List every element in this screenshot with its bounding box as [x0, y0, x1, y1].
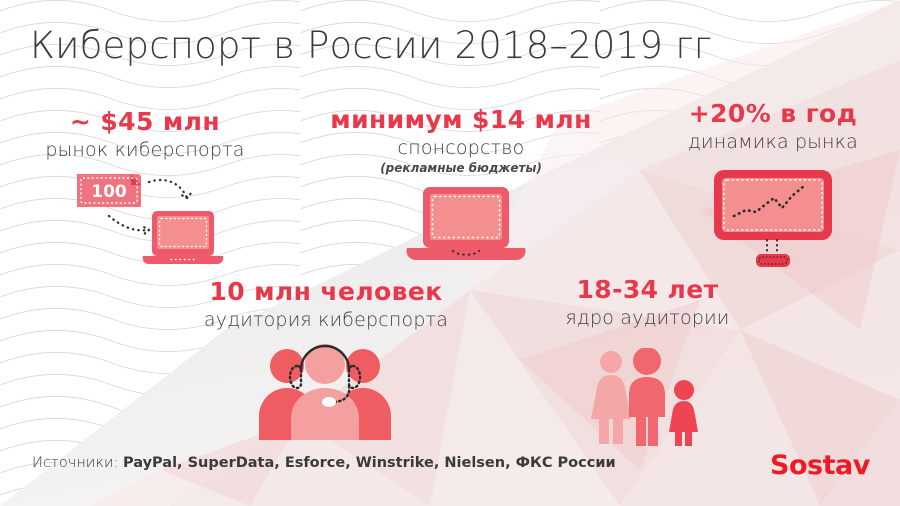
- figure-man: [629, 348, 665, 446]
- stat-audience-label: аудитория киберспорта: [166, 309, 486, 333]
- stat-block-audience: 10 млн человек аудитория киберспорта: [166, 278, 486, 332]
- stat-growth-label: динамика рынка: [648, 131, 898, 155]
- sources-label: Источники:: [32, 455, 118, 471]
- figure-child: [669, 380, 698, 446]
- stat-sponsorship-note: (рекламные бюджеты): [326, 161, 596, 175]
- stat-core-label: ядро аудитории: [520, 307, 775, 331]
- stat-core-value: 18-34 лет: [520, 276, 775, 304]
- laptop-icon: [405, 185, 527, 267]
- banknote-to-laptop-icon: 100: [75, 168, 235, 273]
- gamers-headset-icon: [245, 340, 405, 440]
- page-title: Киберспорт в России 2018–2019 гг: [30, 24, 712, 67]
- microphone-shape: [322, 397, 336, 407]
- banknote-value: 100: [91, 182, 127, 202]
- family-figures-icon: [585, 348, 703, 446]
- sostav-logo[interactable]: Sostav: [770, 450, 870, 481]
- figure-woman: [591, 351, 631, 444]
- infographic-poster: Киберспорт в России 2018–2019 гг ~ $45 м…: [0, 0, 900, 506]
- stat-audience-value: 10 млн человек: [166, 278, 486, 306]
- sources-value: PayPal, SuperData, Esforce, Winstrike, N…: [123, 455, 616, 471]
- stat-market-value: ~ $45 млн: [10, 108, 280, 136]
- stat-block-market: ~ $45 млн рынок киберспорта: [10, 108, 280, 162]
- stat-block-core-audience: 18-34 лет ядро аудитории: [520, 276, 775, 330]
- stat-block-sponsorship: минимум $14 млн спонсорство (рекламные б…: [326, 106, 596, 175]
- banknote-shape: 100: [77, 174, 141, 207]
- laptop-shape: [143, 211, 224, 264]
- dotted-arrow-down: [109, 216, 149, 230]
- sources-line: Источники: PayPal, SuperData, Esforce, W…: [32, 455, 616, 471]
- stat-growth-value: +20% в год: [648, 100, 898, 128]
- stat-sponsorship-value: минимум $14 млн: [326, 106, 596, 134]
- stat-sponsorship-label: спонсорство: [326, 137, 596, 161]
- stat-market-label: рынок киберспорта: [10, 139, 280, 163]
- stat-block-growth: +20% в год динамика рынка: [648, 100, 898, 154]
- monitor-chart-icon: [710, 168, 842, 270]
